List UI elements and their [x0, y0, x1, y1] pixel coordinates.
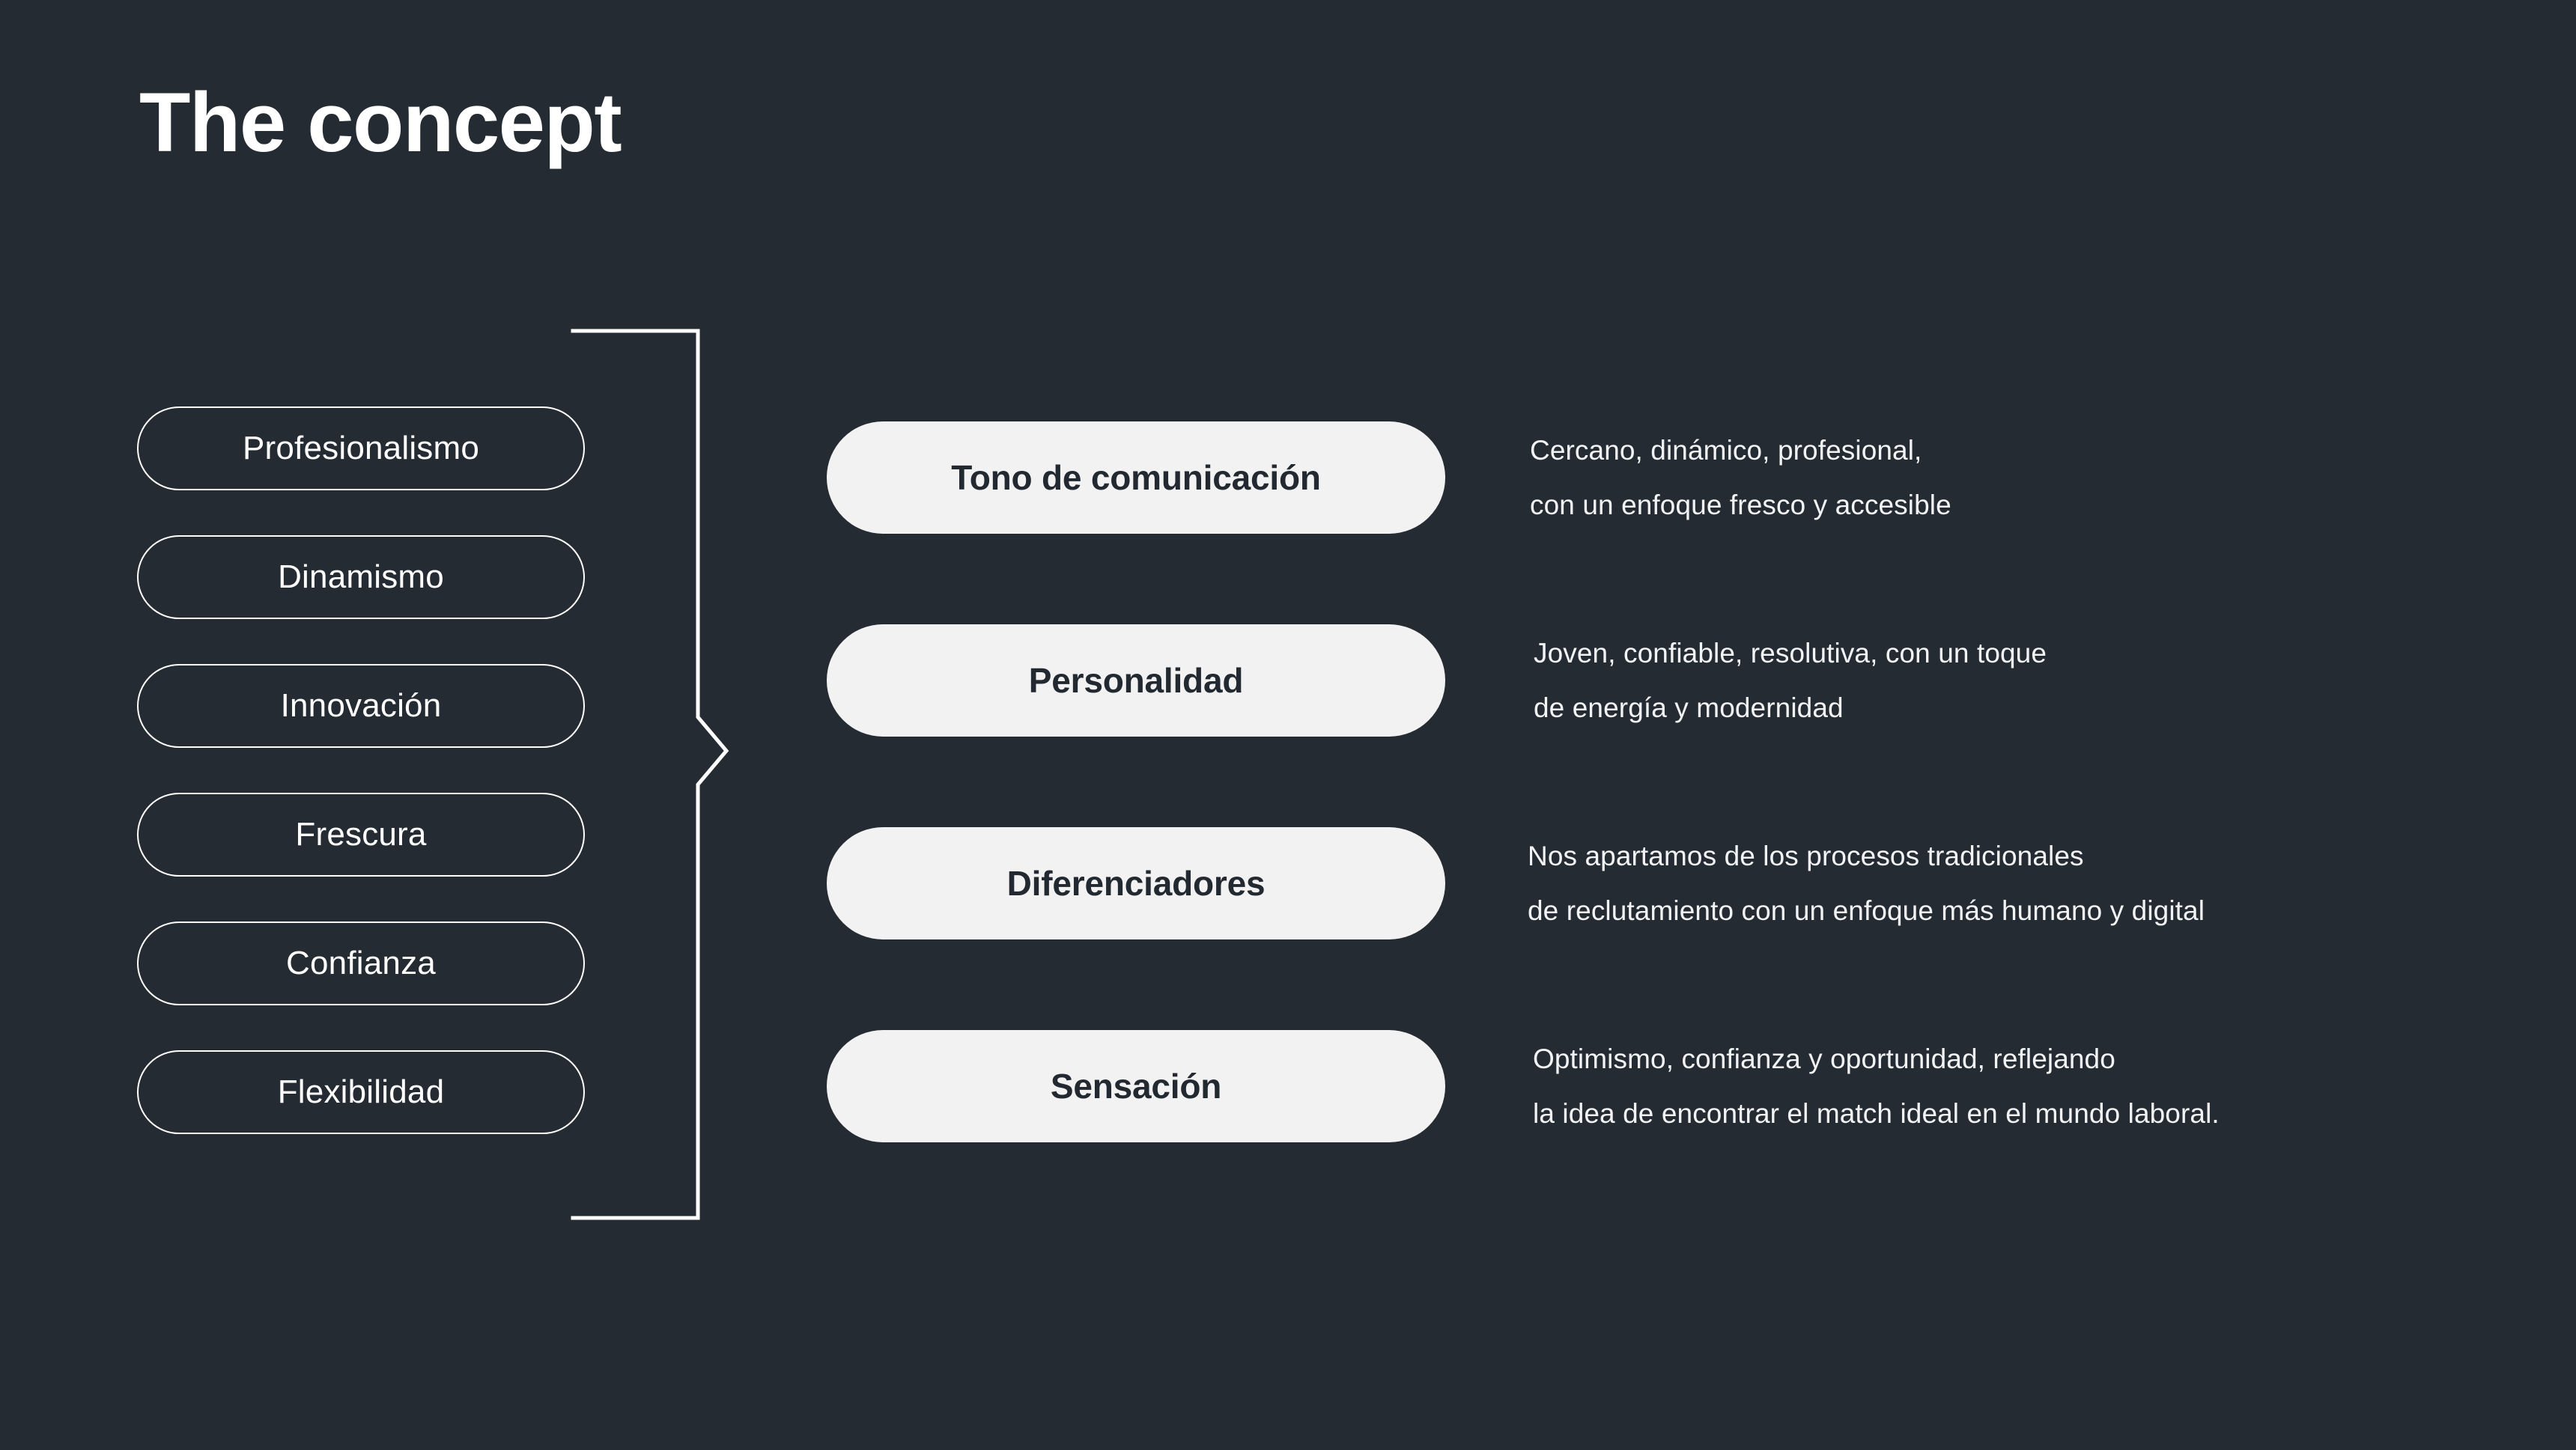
- aspect-pill-label: Tono de comunicación: [951, 460, 1321, 495]
- attribute-pill-label: Confianza: [286, 947, 436, 980]
- aspect-row: Diferenciadores Nos apartamos de los pro…: [827, 827, 2489, 939]
- aspect-description: Cercano, dinámico, profesional, con un e…: [1530, 423, 1951, 532]
- aspect-description: Nos apartamos de los procesos tradiciona…: [1528, 829, 2205, 938]
- slide-canvas: The concept Profesionalismo Dinamismo In…: [0, 0, 2576, 1450]
- description-line: con un enfoque fresco y accesible: [1530, 478, 1951, 532]
- aspect-row: Sensación Optimismo, confianza y oportun…: [827, 1030, 2489, 1142]
- attribute-pill: Flexibilidad: [137, 1050, 585, 1134]
- attribute-pill: Frescura: [137, 793, 585, 877]
- aspect-description: Optimismo, confianza y oportunidad, refl…: [1533, 1032, 2220, 1141]
- description-line: Joven, confiable, resolutiva, con un toq…: [1534, 626, 2047, 680]
- aspect-pill: Tono de comunicación: [827, 421, 1445, 534]
- attribute-pill: Dinamismo: [137, 535, 585, 619]
- aspect-pill: Sensación: [827, 1030, 1445, 1142]
- attribute-pill: Profesionalismo: [137, 406, 585, 490]
- curly-bracket-arrow-icon: [565, 318, 745, 1235]
- attribute-pill-label: Flexibilidad: [278, 1076, 445, 1109]
- aspect-row: Personalidad Joven, confiable, resolutiv…: [827, 624, 2489, 737]
- aspect-description: Joven, confiable, resolutiva, con un toq…: [1534, 626, 2047, 735]
- aspect-pill: Diferenciadores: [827, 827, 1445, 939]
- aspect-pill-label: Sensación: [1051, 1069, 1221, 1103]
- page-title: The concept: [139, 79, 621, 167]
- aspect-list: Tono de comunicación Cercano, dinámico, …: [827, 421, 2489, 1142]
- description-line: de reclutamiento con un enfoque más huma…: [1528, 883, 2205, 938]
- attribute-pill-list: Profesionalismo Dinamismo Innovación Fre…: [137, 406, 585, 1134]
- attribute-pill-label: Profesionalismo: [243, 432, 479, 465]
- aspect-pill-label: Diferenciadores: [1007, 866, 1266, 901]
- aspect-pill: Personalidad: [827, 624, 1445, 737]
- attribute-pill-label: Dinamismo: [278, 561, 444, 594]
- attribute-pill-label: Innovación: [281, 689, 442, 722]
- description-line: la idea de encontrar el match ideal en e…: [1533, 1086, 2220, 1141]
- attribute-pill: Innovación: [137, 664, 585, 748]
- description-line: de energía y modernidad: [1534, 680, 2047, 735]
- description-line: Nos apartamos de los procesos tradiciona…: [1528, 829, 2205, 883]
- description-line: Optimismo, confianza y oportunidad, refl…: [1533, 1032, 2220, 1086]
- attribute-pill: Confianza: [137, 922, 585, 1005]
- aspect-pill-label: Personalidad: [1029, 663, 1243, 698]
- description-line: Cercano, dinámico, profesional,: [1530, 423, 1951, 478]
- attribute-pill-label: Frescura: [295, 818, 426, 851]
- aspect-row: Tono de comunicación Cercano, dinámico, …: [827, 421, 2489, 534]
